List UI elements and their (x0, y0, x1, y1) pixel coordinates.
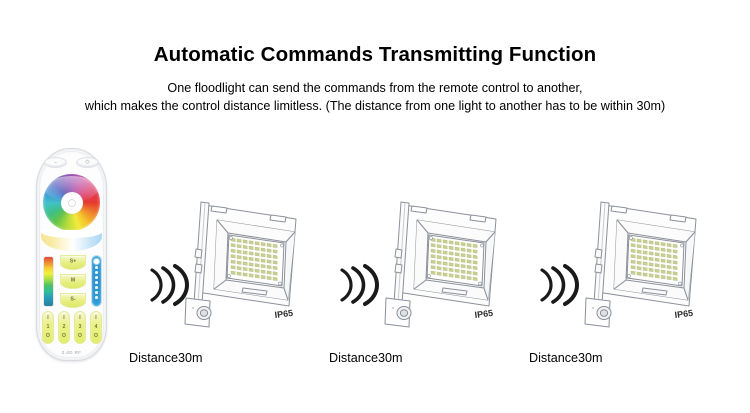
zone-3-off-label: O (78, 334, 82, 339)
power-button[interactable]: ⏻ (76, 157, 99, 168)
speed-down-label: S- (70, 297, 75, 302)
zone-button-2[interactable]: I 2 O (58, 311, 70, 344)
slider-dot (95, 266, 98, 269)
slider-dot (95, 291, 98, 294)
remote-rf-label: 2.4G RF (36, 350, 107, 355)
floodlight-3-ip-label: IP65 (674, 308, 694, 320)
floodlight-1-ip-label: IP65 (274, 308, 294, 320)
zone-button-1[interactable]: I 1 O (42, 311, 54, 344)
distance-label-1: Distance30m (129, 352, 203, 365)
sun-icon (94, 259, 99, 264)
distance-label-2: Distance30m (329, 352, 403, 365)
zone-button-3[interactable]: I 3 O (74, 311, 86, 344)
zone-button-group: I 1 O I 2 O I 3 O I 4 O (42, 311, 102, 344)
slider-dot (95, 271, 98, 274)
zone-1-on-label: I (47, 316, 48, 321)
speed-button-group: S+ M S- (60, 255, 84, 307)
floodlight-2-ip-label: IP65 (474, 308, 494, 320)
slider-dot (95, 286, 98, 289)
zone-1-number: 1 (47, 325, 50, 330)
mode-button[interactable]: M (60, 274, 86, 289)
color-wheel[interactable] (43, 174, 100, 231)
zone-3-on-label: I (79, 316, 80, 321)
speed-down-button[interactable]: S- (60, 293, 86, 308)
zone-4-number: 4 (95, 325, 98, 330)
zone-1-off-label: O (46, 334, 50, 339)
slider-dot (95, 276, 98, 279)
distance-label-3: Distance30m (529, 352, 603, 365)
slider-dot (95, 281, 98, 284)
zone-2-number: 2 (63, 325, 66, 330)
minus-button[interactable]: – (44, 157, 67, 168)
floodlight-1[interactable]: IP65 (183, 188, 315, 338)
floodlight-2[interactable]: IP65 (383, 188, 515, 338)
zone-3-number: 3 (79, 325, 82, 330)
slider-dot (95, 296, 98, 299)
floodlight-3[interactable]: IP65 (583, 188, 715, 338)
zone-4-off-label: O (94, 334, 98, 339)
zone-2-off-label: O (62, 334, 66, 339)
color-wheel-center-dot[interactable] (68, 199, 76, 207)
zone-4-on-label: I (95, 316, 96, 321)
zone-button-4[interactable]: I 4 O (90, 311, 102, 344)
signal-waves-2 (338, 262, 384, 308)
speed-up-label: S+ (70, 259, 77, 264)
diagram-stage: – ⏻ S+ M S- (0, 0, 750, 413)
remote-top-button-row: – ⏻ (44, 157, 99, 168)
remote-control[interactable]: – ⏻ S+ M S- (36, 148, 107, 361)
brightness-slider[interactable] (91, 255, 102, 307)
power-icon: ⏻ (86, 160, 90, 165)
zone-2-on-label: I (63, 316, 64, 321)
minus-icon: – (54, 160, 57, 165)
speed-up-button[interactable]: S+ (60, 255, 86, 270)
signal-waves-3 (538, 262, 584, 308)
color-spectrum-bar[interactable] (43, 256, 54, 307)
mode-label: M (71, 278, 75, 283)
